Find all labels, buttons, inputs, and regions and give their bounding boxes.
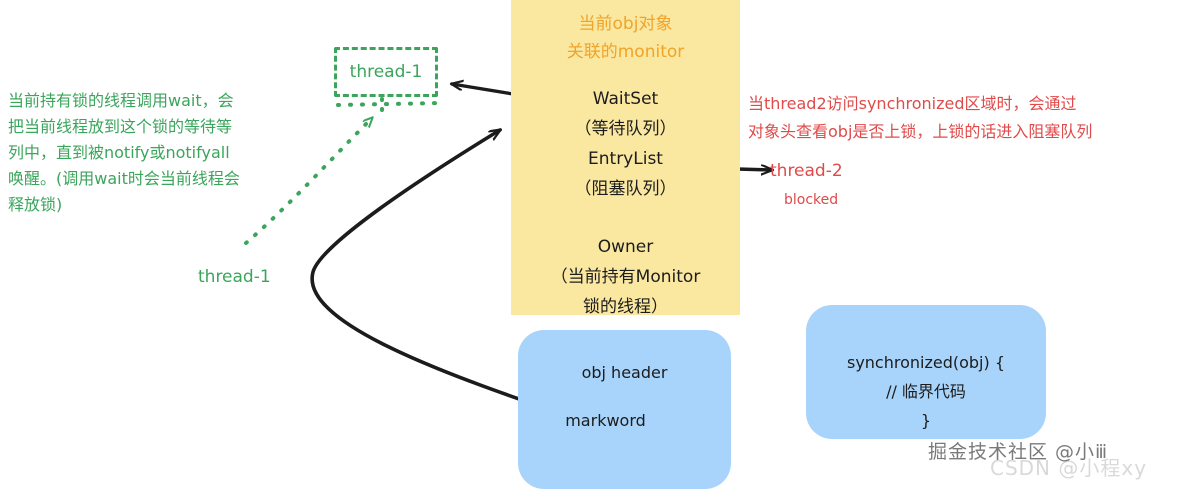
- thread2-state-label: blocked: [784, 192, 838, 208]
- blocked-note: 当thread2访问synchronized区域时，会通过 对象头查看obj是否…: [748, 90, 1186, 146]
- thread1-box: thread-1: [334, 47, 438, 97]
- monitor-entrylist: EntryList （阻塞队列）: [511, 144, 740, 204]
- thread1-label: thread-1: [198, 264, 271, 290]
- monitor-waitset: WaitSet （等待队列）: [511, 84, 740, 144]
- dotted-path-to-thread1-bottom: [338, 103, 440, 105]
- watermark-primary: 掘金技术社区 @小ⅲ: [928, 437, 1108, 464]
- code-snippet: synchronized(obj) { // 临界代码 }: [806, 348, 1046, 435]
- object-header-label: obj header: [518, 356, 731, 390]
- monitor-title: 当前obj对象 关联的monitor: [511, 10, 740, 66]
- thread2-label: thread-2: [770, 161, 843, 181]
- object-markword-label: markword: [518, 404, 693, 438]
- monitor-owner: Owner （当前持有Monitor 锁的线程）: [511, 232, 740, 322]
- wait-note: 当前持有锁的线程调用wait，会 把当前线程放到这个锁的等待等 列中，直到被no…: [8, 88, 298, 218]
- thread1-box-label: thread-1: [350, 62, 423, 82]
